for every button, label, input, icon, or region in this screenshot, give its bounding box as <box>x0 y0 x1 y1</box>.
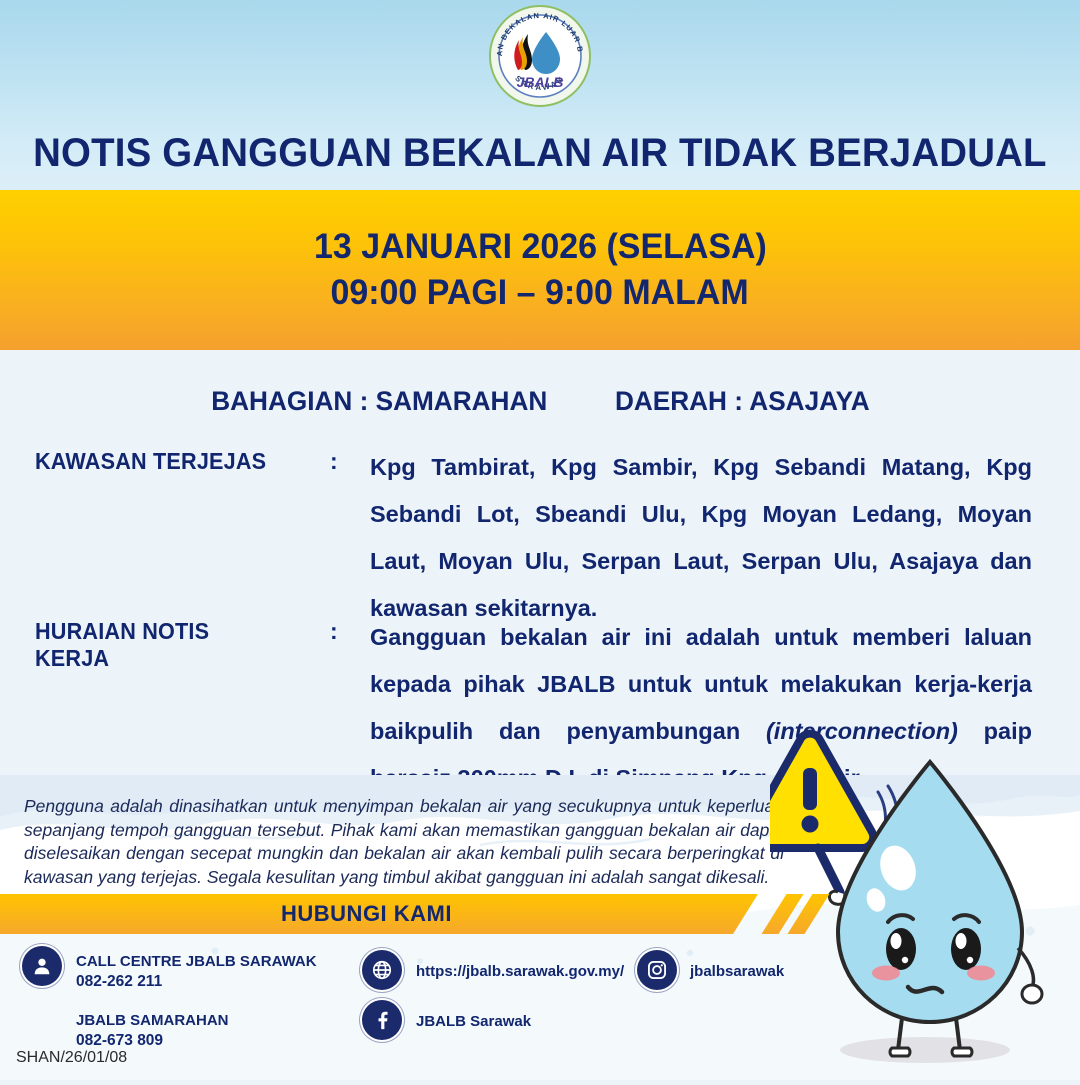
affected-areas-label: KAWASAN TERJEJAS <box>35 448 289 475</box>
work-description-colon: : <box>330 618 338 645</box>
header-banner: JABATAN BEKALAN AIR LUAR BANDAR SARAWAK … <box>0 0 1080 190</box>
notice-time: 09:00 PAGI – 9:00 MALAM <box>331 273 749 313</box>
facebook-icon[interactable] <box>362 1000 402 1040</box>
call-centre-contact: CALL CENTRE JBALB SARAWAK 082-262 211 <box>76 952 317 992</box>
person-icon <box>22 946 62 986</box>
droplet-body <box>838 762 1022 1022</box>
disclaimer-text: Pengguna adalah dinasihatkan untuk menyi… <box>24 795 784 889</box>
work-description-label: HURAIAN NOTIS KERJA <box>35 618 289 672</box>
reference-number: SHAN/26/01/08 <box>16 1049 127 1067</box>
district-label: DAERAH : ASAJAYA <box>615 386 870 417</box>
call-centre-name: CALL CENTRE JBALB SARAWAK <box>76 952 317 972</box>
affected-areas-value: Kpg Tambirat, Kpg Sambir, Kpg Sebandi Ma… <box>370 444 1032 632</box>
date-time-banner: 13 JANUARI 2026 (SELASA) 09:00 PAGI – 9:… <box>0 190 1080 350</box>
contact-banner: HUBUNGI KAMI <box>0 894 790 934</box>
samarahan-name: JBALB SAMARAHAN <box>76 1011 229 1031</box>
affected-areas-colon: : <box>330 448 338 475</box>
facebook-handle[interactable]: JBALB Sarawak <box>416 1012 531 1032</box>
website-url[interactable]: https://jbalb.sarawak.gov.my/ <box>416 962 624 982</box>
samarahan-contact: JBALB SAMARAHAN 082-673 809 <box>76 1011 229 1051</box>
samarahan-number: 082-673 809 <box>76 1031 229 1051</box>
right-eye <box>951 928 981 970</box>
contact-banner-label: HUBUNGI KAMI <box>0 894 733 934</box>
notice-date: 13 JANUARI 2026 (SELASA) <box>314 227 767 267</box>
instagram-handle[interactable]: jbalbsarawak <box>690 962 784 982</box>
svg-text:JBALB: JBALB <box>517 74 564 90</box>
page-title-text: NOTIS GANGGUAN BEKALAN AIR TIDAK BERJADU… <box>33 131 1047 176</box>
jbalb-logo: JABATAN BEKALAN AIR LUAR BANDAR SARAWAK … <box>488 4 592 108</box>
page-title: NOTIS GANGGUAN BEKALAN AIR TIDAK BERJADU… <box>0 122 1080 184</box>
globe-icon[interactable] <box>362 950 402 990</box>
division-label: BAHAGIAN : SAMARAHAN <box>212 386 548 417</box>
region-row: BAHAGIAN : SAMARAHAN DAERAH : ASAJAYA <box>0 386 1080 417</box>
left-eye <box>886 928 916 970</box>
instagram-icon[interactable] <box>637 950 677 990</box>
notice-poster: JABATAN BEKALAN AIR LUAR BANDAR SARAWAK … <box>0 0 1080 1080</box>
call-centre-number: 082-262 211 <box>76 972 317 992</box>
warning-triangle-icon <box>770 734 873 848</box>
